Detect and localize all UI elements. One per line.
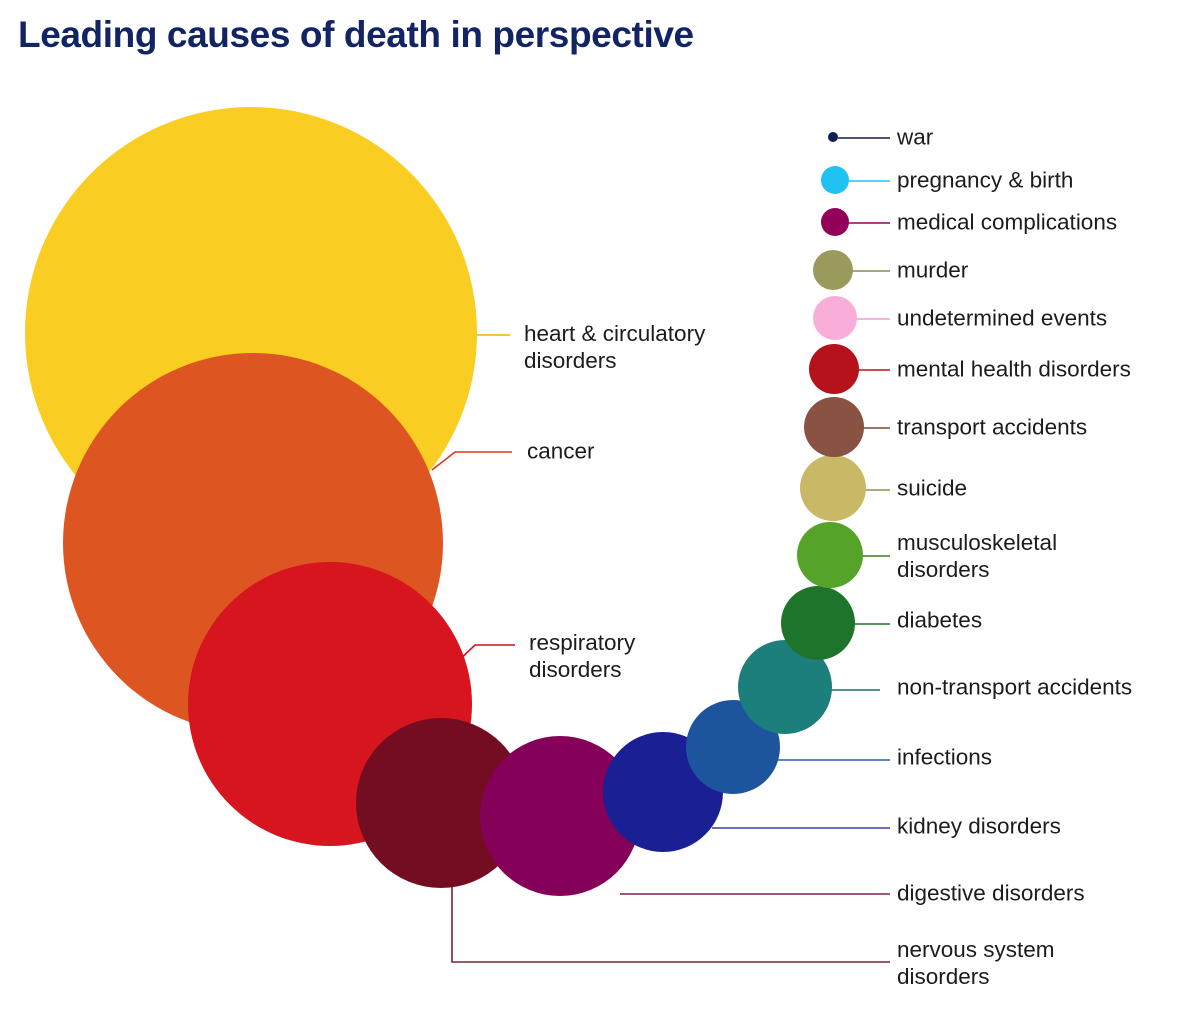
bubble-label-suicide: suicide [897,476,967,503]
bubble-murder [813,250,853,290]
bubble-label-musculoskeletal: musculoskeletal disorders [897,530,1057,583]
bubble-suicide [800,455,866,521]
bubble-label-nontransport: non-transport accidents [897,675,1132,702]
bubble-label-respiratory: respiratory disorders [529,630,635,683]
bubble-label-infections: infections [897,745,992,772]
bubble-pregnancy [821,166,849,194]
bubble-label-medical: medical complications [897,210,1117,237]
bubble-label-digestive: digestive disorders [897,881,1085,908]
bubble-label-transport: transport accidents [897,415,1087,442]
bubble-war [828,132,838,142]
bubble-label-nervous: nervous system disorders [897,937,1055,990]
bubble-group [25,107,866,896]
bubble-chart-svg [0,0,1200,1023]
bubble-label-kidney: kidney disorders [897,814,1061,841]
bubble-medical [821,208,849,236]
bubble-transport [804,397,864,457]
bubble-diabetes [781,586,855,660]
bubble-label-mentalhealth: mental health disorders [897,357,1131,384]
bubble-label-war: war [897,125,933,152]
leader-line-cancer [432,452,512,470]
bubble-label-pregnancy: pregnancy & birth [897,168,1073,195]
bubble-undetermined [813,296,857,340]
bubble-label-cancer: cancer [527,439,595,466]
chart-canvas: Leading causes of death in perspective [0,0,1200,1023]
bubble-label-murder: murder [897,258,968,285]
bubble-label-heart: heart & circulatory disorders [524,321,705,374]
leader-line-nervous [452,880,890,962]
bubble-label-diabetes: diabetes [897,608,982,635]
bubble-musculoskeletal [797,522,863,588]
bubble-label-undetermined: undetermined events [897,306,1107,333]
bubble-mentalhealth [809,344,859,394]
